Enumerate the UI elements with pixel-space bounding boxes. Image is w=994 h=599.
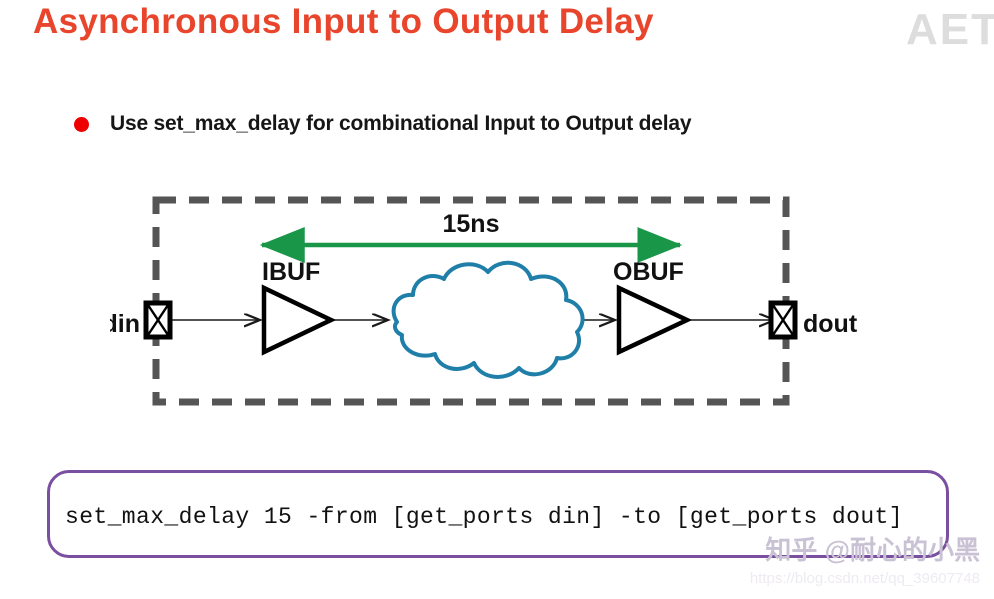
- din-pad-icon: [146, 303, 170, 337]
- combinational-cloud-icon: [394, 263, 583, 377]
- bullet-dot-icon: [74, 117, 89, 132]
- obuf-label: OBUF: [613, 258, 684, 286]
- din-label: din: [110, 310, 140, 338]
- slide-canvas: Asynchronous Input to Output Delay AET U…: [0, 0, 994, 599]
- code-command-text: set_max_delay 15 -from [get_ports din] -…: [65, 504, 903, 530]
- bullet-item-label: Use set_max_delay for combinational Inpu…: [110, 112, 691, 136]
- dout-label: dout: [803, 310, 858, 338]
- watermark-url: https://blog.csdn.net/qq_39607748: [750, 570, 980, 587]
- bullet-item: Use set_max_delay for combinational Inpu…: [74, 112, 691, 136]
- dout-pad-icon: [771, 303, 795, 337]
- ibuf-label: IBUF: [262, 258, 320, 286]
- obuf-symbol: [619, 288, 687, 352]
- aet-logo: AET: [906, 8, 994, 52]
- page-title: Asynchronous Input to Output Delay: [33, 2, 654, 42]
- timing-label: 15ns: [443, 210, 500, 238]
- ibuf-symbol: [264, 288, 331, 352]
- timing-diagram: 15ns IBUF OBUF din dout: [110, 185, 870, 420]
- watermark-handle: 知乎 @耐心的小黑: [765, 530, 980, 567]
